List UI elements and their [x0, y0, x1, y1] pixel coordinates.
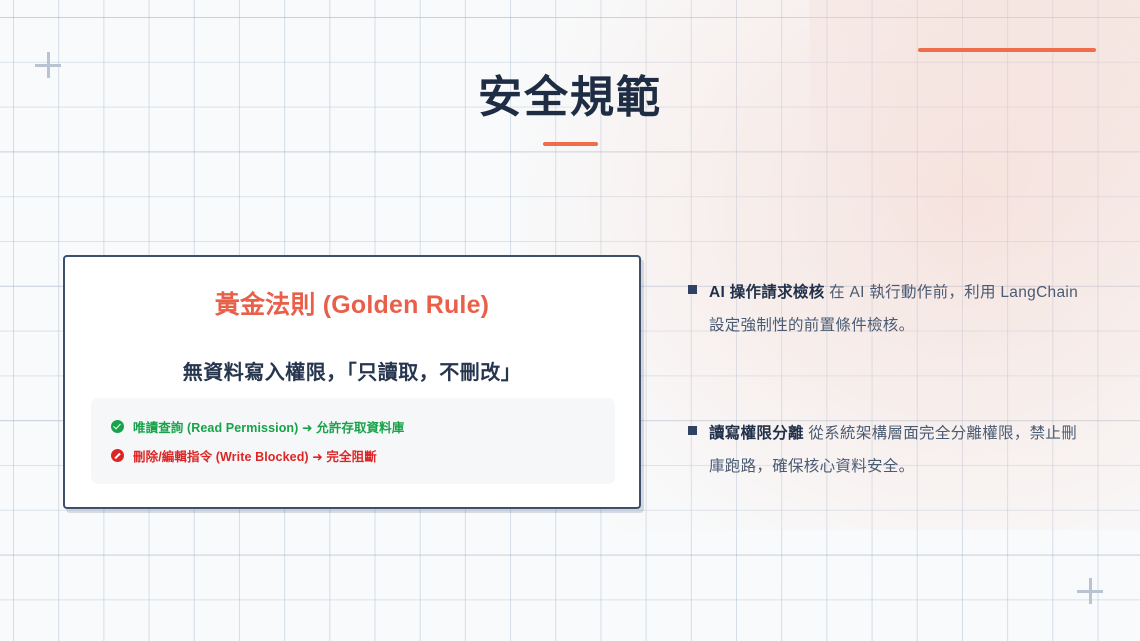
square-bullet-icon: [688, 285, 697, 294]
plus-icon-bottom-right: [1077, 578, 1103, 604]
golden-rule-card: 黃金法則 (Golden Rule) 無資料寫入權限，「只讀取，不刪改」 唯讀查…: [63, 255, 641, 509]
bullet-lead-label: 讀寫權限分離: [709, 425, 804, 442]
permission-deny-label: 刪除/編輯指令 (Write Blocked) ➜ 完全阻斷: [133, 446, 377, 465]
permission-row-deny: 刪除/編輯指令 (Write Blocked) ➜ 完全阻斷: [91, 441, 615, 470]
block-circle-icon: [111, 449, 124, 462]
bullet-text: AI 操作請求檢核 在 AI 執行動作前，利用 LangChain 設定強制性的…: [709, 276, 1088, 343]
list-item: 讀寫權限分離 從系統架構層面完全分離權限，禁止刪庫跑路，確保核心資料安全。: [688, 417, 1088, 484]
page-title: 安全規範: [0, 74, 1140, 122]
bullet-list: AI 操作請求檢核 在 AI 執行動作前，利用 LangChain 設定強制性的…: [688, 276, 1088, 558]
golden-rule-heading: 黃金法則 (Golden Rule): [65, 285, 639, 321]
permission-allow-label: 唯讀查詢 (Read Permission) ➜ 允許存取資料庫: [133, 417, 404, 436]
golden-rule-subheading: 無資料寫入權限，「只讀取，不刪改」: [65, 356, 639, 385]
title-block: 安全規範: [0, 74, 1140, 146]
permissions-box: 唯讀查詢 (Read Permission) ➜ 允許存取資料庫 刪除/編輯指令…: [91, 398, 615, 484]
bullet-text: 讀寫權限分離 從系統架構層面完全分離權限，禁止刪庫跑路，確保核心資料安全。: [709, 417, 1088, 484]
top-right-accent-rule: [918, 48, 1096, 52]
square-bullet-icon: [688, 426, 697, 435]
permission-row-allow: 唯讀查詢 (Read Permission) ➜ 允許存取資料庫: [91, 412, 615, 441]
slide-canvas: 安全規範 黃金法則 (Golden Rule) 無資料寫入權限，「只讀取，不刪改…: [0, 0, 1140, 641]
list-item: AI 操作請求檢核 在 AI 執行動作前，利用 LangChain 設定強制性的…: [688, 276, 1088, 343]
check-circle-icon: [111, 420, 124, 433]
bullet-lead-label: AI 操作請求檢核: [709, 284, 825, 301]
title-underline: [543, 142, 598, 146]
